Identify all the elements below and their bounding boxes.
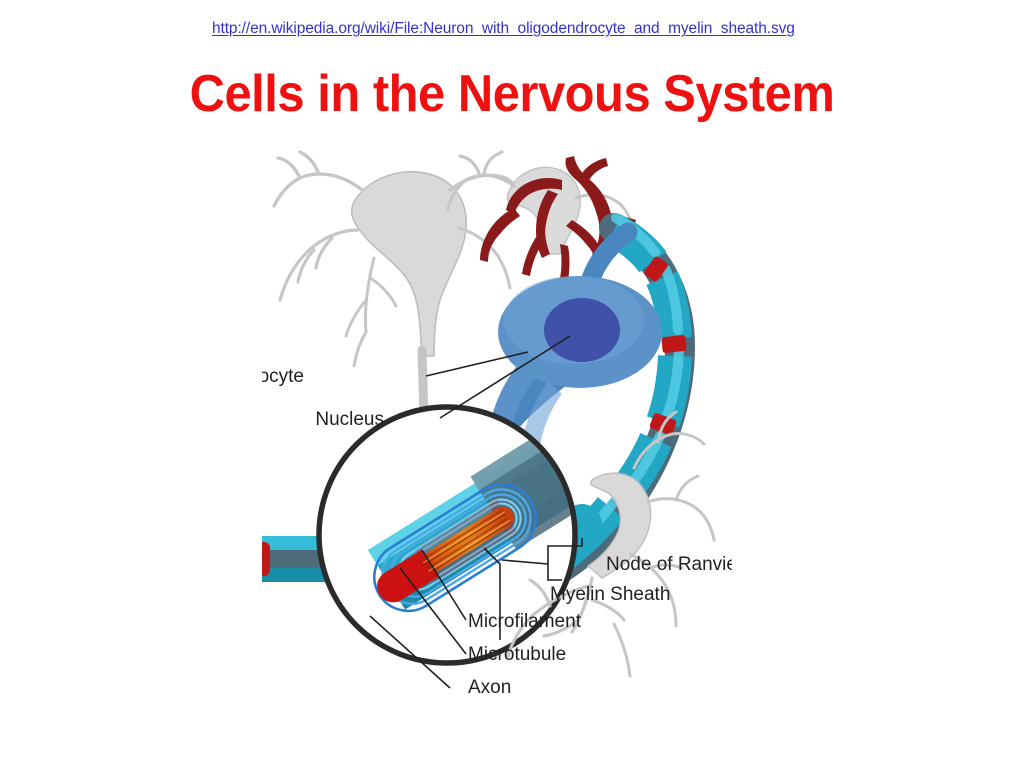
label-microfilament: Microfilament [468, 611, 582, 632]
label-microtubule: Microtubule [468, 644, 566, 665]
label-axon: Axon [468, 677, 511, 698]
source-url-link[interactable]: http://en.wikipedia.org/wiki/File:Neuron… [212, 20, 795, 37]
page-title: Cells in the Nervous System [31, 64, 994, 124]
label-node-of-ranvier: Node of Ranvier [606, 554, 732, 575]
neuron-diagram: Oligodendrocyte Nucleus Node of Ranvier … [262, 150, 732, 710]
label-myelin-sheath: Myelin Sheath [550, 584, 670, 605]
source-url: http://en.wikipedia.org/wiki/File:Neuron… [212, 20, 795, 38]
nucleus-shape [544, 298, 620, 362]
label-oligodendrocyte: Oligodendrocyte [262, 366, 304, 387]
label-nucleus: Nucleus [315, 409, 384, 430]
